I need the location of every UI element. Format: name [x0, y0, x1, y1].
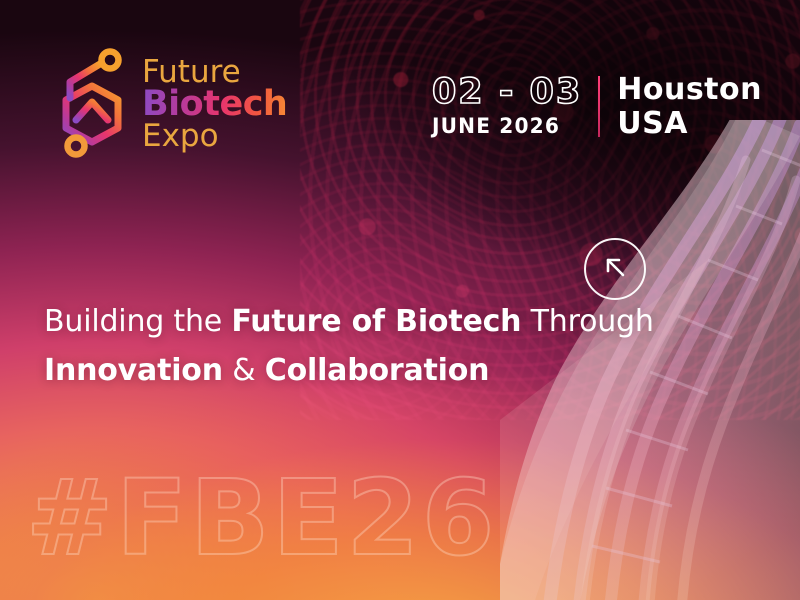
headline-l1-c: Through	[521, 304, 653, 339]
headline-l1-b: Future of Biotech	[231, 304, 521, 339]
event-city: Houston	[617, 74, 762, 106]
arrow-up-left-icon	[600, 252, 630, 287]
hexagon-molecule-icon	[56, 46, 128, 163]
logo[interactable]: Future Biotech Expo	[56, 46, 287, 163]
headline: Building the Future of Biotech Through I…	[44, 298, 684, 395]
event-meta: 02 - 03 JUNE 2026 Houston USA	[432, 74, 762, 139]
headline-l2-b: &	[223, 353, 265, 388]
headline-l2-c: Collaboration	[265, 353, 490, 388]
headline-l2-a: Innovation	[44, 353, 223, 388]
event-date: 02 - 03 JUNE 2026	[432, 74, 598, 139]
arrow-up-left-button[interactable]	[584, 238, 646, 300]
headline-l1-a: Building the	[44, 304, 231, 339]
event-month-year: JUNE 2026	[432, 114, 560, 138]
logo-line-future: Future	[142, 58, 287, 87]
event-banner: #FBE26	[0, 0, 800, 600]
event-country: USA	[617, 108, 762, 140]
headline-line-1: Building the Future of Biotech Through	[44, 298, 684, 347]
logo-line-biotech: Biotech	[142, 88, 287, 121]
event-days: 02 - 03	[432, 75, 582, 111]
event-location: Houston USA	[600, 74, 762, 139]
logo-line-expo: Expo	[142, 122, 287, 151]
logo-wordmark: Future Biotech Expo	[142, 58, 287, 150]
headline-line-2: Innovation & Collaboration	[44, 347, 684, 396]
hashtag-watermark: #FBE26	[26, 466, 497, 570]
